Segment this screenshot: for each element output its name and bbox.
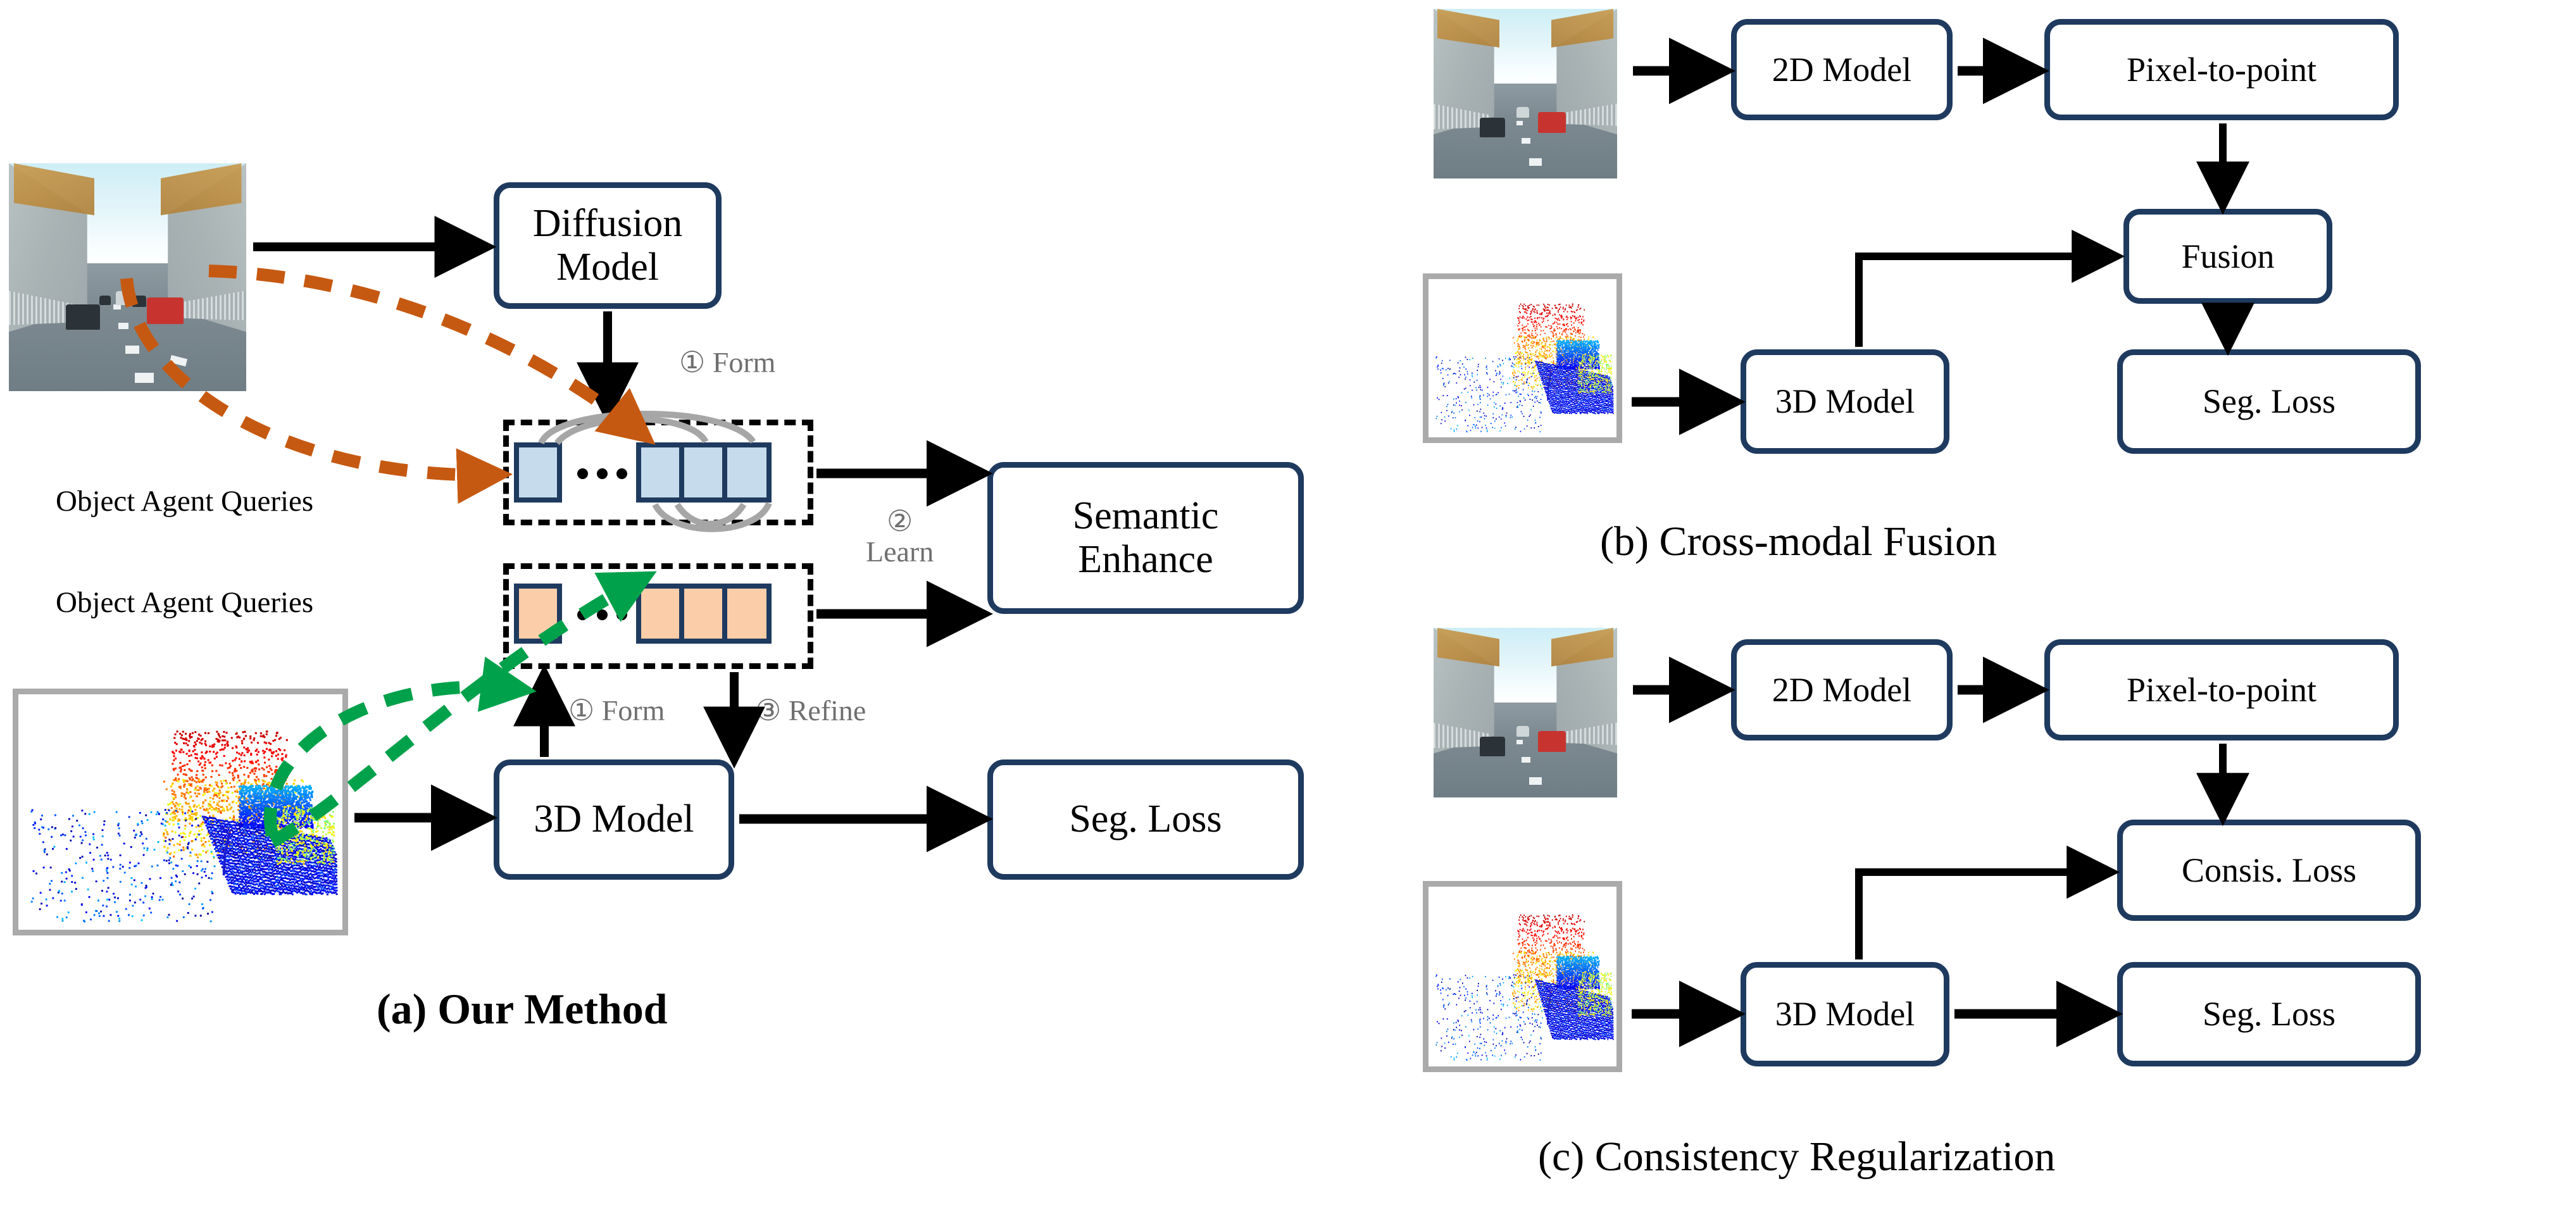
panel-c-camera-image [1434,628,1617,797]
point-cloud-svg [1429,279,1616,437]
panel-b-camera-image [1434,9,1617,178]
panel-c-lidar-point-cloud [1423,881,1622,1072]
panel-a-caption: (a) Our Method [377,984,668,1034]
panel-c-2d-model-box[interactable]: 2D Model [1731,639,1953,740]
panel-a-step-refine-label: ③ Refine [755,693,866,727]
panel-b-seg-loss-label: Seg. Loss [2203,382,2335,420]
panel-a-point-query-token[interactable] [514,584,562,644]
panel-a-point-query-token[interactable] [679,584,727,644]
panel-b-lidar-point-cloud [1423,273,1622,443]
panel-c-seg-loss-label: Seg. Loss [2203,995,2335,1033]
panel-a-diffusion-model-label: Diffusion Model [533,202,683,290]
panel-c-3d-model-label: 3D Model [1775,995,1915,1033]
panel-c-seg-loss-box[interactable]: Seg. Loss [2117,962,2421,1066]
panel-b-2d-model-label: 2D Model [1772,51,1911,89]
panel-a-image-queries-label: Object Agent Queries [56,484,313,518]
panel-c-2d-model-label: 2D Model [1772,671,1911,709]
panel-c-arrow-3d-model-to-consis-loss [1859,872,2108,959]
panel-b-arrow-3d-model-to-fusion [1859,256,2113,347]
panel-b-2d-model-box[interactable]: 2D Model [1731,19,1953,120]
panel-b-fusion-label: Fusion [2181,237,2274,275]
panel-a-camera-image [9,163,246,391]
panel-b-3d-model-label: 3D Model [1775,382,1915,420]
panel-a-3d-model-box[interactable]: 3D Model [494,759,734,880]
panel-a-step-form-image-label: ① Form [679,345,775,379]
panel-a-image-query-token[interactable] [679,442,727,503]
panel-b-pixel-to-point-box[interactable]: Pixel-to-point [2044,19,2399,120]
panel-a-image-query-ellipsis [577,468,627,479]
panel-c-pixel-to-point-box[interactable]: Pixel-to-point [2044,639,2399,740]
point-cloud-svg [18,694,342,930]
panel-a-step-learn-label: ② Learn [866,506,934,568]
point-cloud-svg [1429,887,1616,1066]
panel-b-pixel-to-point-label: Pixel-to-point [2127,51,2317,89]
panel-a-seg-loss-box[interactable]: Seg. Loss [987,759,1304,880]
panel-b-fusion-box[interactable]: Fusion [2123,209,2332,304]
panel-a-3d-model-label: 3D Model [534,797,694,841]
panel-a-image-query-token[interactable] [514,442,562,503]
panel-c-consis-loss-box[interactable]: Consis. Loss [2117,820,2421,921]
panel-a-point-queries-label: Object Agent Queries [56,585,313,620]
panel-a-image-query-token[interactable] [722,442,772,503]
panel-a-semantic-enhance-box[interactable]: Semantic Enhance [987,462,1304,614]
panel-a-image-query-token[interactable] [636,442,684,503]
panel-b-seg-loss-box[interactable]: Seg. Loss [2117,349,2421,454]
panel-a-diffusion-model-box[interactable]: Diffusion Model [494,182,722,309]
panel-b-3d-model-box[interactable]: 3D Model [1741,349,1949,454]
panel-a-semantic-enhance-label: Semantic Enhance [1073,494,1219,582]
panel-a-point-query-token[interactable] [636,584,684,644]
panel-a-step-form-point-label: ① Form [568,693,665,727]
panel-a-lidar-point-cloud [13,689,348,935]
panel-c-caption: (c) Consistency Regularization [1538,1133,2055,1181]
panel-b-caption: (b) Cross-modal Fusion [1600,518,1997,566]
panel-a-point-query-ellipsis [577,609,627,620]
panel-a-seg-loss-label: Seg. Loss [1069,797,1222,841]
panel-c-3d-model-box[interactable]: 3D Model [1741,962,1949,1066]
panel-c-consis-loss-label: Consis. Loss [2182,851,2356,889]
panel-a-point-query-token[interactable] [722,584,772,644]
figure-root: Diffusion Model Semantic Enhance 3D Mode… [0,0,2576,1212]
panel-c-pixel-to-point-label: Pixel-to-point [2127,671,2317,709]
